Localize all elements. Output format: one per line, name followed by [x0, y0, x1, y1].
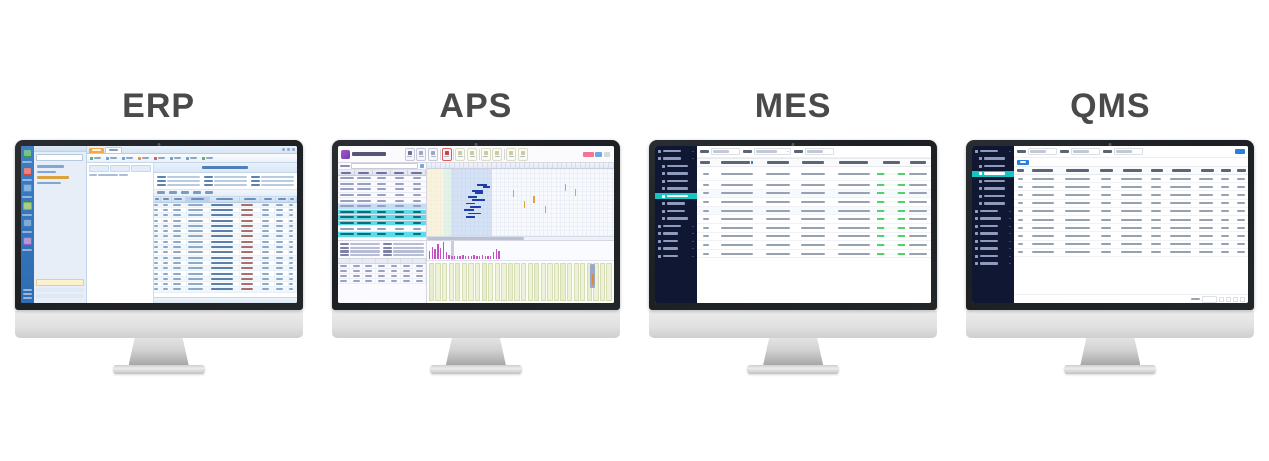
aps-toolbar-buttons[interactable] — [583, 152, 612, 157]
tab-bar[interactable] — [87, 146, 297, 154]
capacity-chart[interactable] — [427, 261, 614, 303]
capacity-marker[interactable] — [590, 264, 595, 288]
table-cell — [905, 244, 931, 246]
capacity-bar[interactable] — [468, 263, 473, 301]
histogram-bar — [485, 256, 486, 259]
table-cell — [1234, 194, 1249, 196]
table-row[interactable] — [697, 250, 931, 259]
capacity-bar[interactable] — [488, 263, 493, 301]
table-cell — [240, 229, 261, 233]
resource-card[interactable] — [467, 148, 477, 161]
table-cell — [831, 192, 877, 194]
table-row[interactable] — [697, 207, 931, 216]
qms-action-bar[interactable] — [1014, 158, 1248, 166]
window-controls[interactable] — [282, 148, 295, 151]
table-row[interactable] — [1014, 175, 1248, 183]
page-button[interactable] — [1240, 297, 1245, 302]
production-order-field[interactable] — [700, 148, 740, 155]
order-cell — [355, 233, 373, 235]
capacity-bar[interactable] — [606, 263, 611, 301]
detail-key-values[interactable] — [338, 241, 426, 258]
sidebar-item[interactable] — [655, 216, 697, 222]
capacity-bar[interactable] — [508, 263, 513, 301]
capacity-bar[interactable] — [547, 263, 552, 301]
mini-cell — [388, 274, 401, 278]
table-cell — [162, 282, 173, 286]
table-cell — [1095, 186, 1116, 188]
sidebar-item[interactable] — [972, 238, 1014, 244]
table-cell — [275, 256, 288, 260]
gantt-canvas[interactable] — [427, 169, 614, 236]
mini-cell — [350, 264, 363, 268]
form-field[interactable] — [157, 176, 200, 178]
sidebar-item[interactable] — [972, 253, 1014, 259]
sidebar-item[interactable] — [655, 201, 697, 207]
list-item[interactable] — [87, 172, 153, 178]
form-field[interactable] — [251, 176, 294, 178]
detail-pair[interactable] — [383, 254, 424, 256]
mes-sidebar[interactable] — [655, 146, 697, 303]
table-cell — [1059, 251, 1096, 253]
caption-aps: APS — [317, 86, 634, 126]
tree-node-active[interactable] — [37, 176, 69, 179]
sidebar-item[interactable] — [972, 223, 1014, 229]
table-cell — [261, 282, 275, 286]
qms-sidebar[interactable] — [972, 146, 1014, 303]
detail-pair[interactable] — [383, 243, 424, 245]
sidebar-item[interactable] — [655, 208, 697, 214]
resource-card[interactable] — [492, 148, 502, 161]
table-row[interactable] — [697, 198, 931, 207]
table-cell — [289, 218, 297, 222]
table-row[interactable] — [697, 233, 931, 242]
table-cell — [905, 192, 931, 194]
gantt-marker[interactable] — [545, 206, 546, 213]
table-cell — [1014, 202, 1026, 204]
settings-icon[interactable] — [23, 237, 32, 245]
sidebar-item[interactable] — [655, 163, 697, 169]
toolbar-button-edit[interactable] — [154, 157, 165, 160]
finance-icon[interactable] — [23, 219, 32, 227]
table-cell — [289, 261, 297, 265]
sidebar-item[interactable] — [972, 231, 1014, 237]
page-button[interactable] — [1233, 297, 1238, 302]
tree-node[interactable] — [37, 171, 56, 174]
mini-cell — [350, 274, 363, 278]
page-button[interactable] — [1219, 297, 1224, 302]
menu-icon — [975, 262, 978, 265]
capacity-bar[interactable] — [534, 263, 539, 301]
table-cell — [760, 173, 795, 175]
menu-icon — [975, 240, 978, 243]
order-row[interactable] — [338, 232, 426, 238]
qms-pager[interactable] — [1014, 294, 1248, 303]
sidebar-item[interactable] — [655, 231, 697, 237]
erp-launcher-rail[interactable] — [21, 146, 34, 303]
table-cell — [1196, 251, 1217, 253]
resource-card[interactable] — [442, 148, 452, 161]
batch-field[interactable] — [1060, 148, 1100, 155]
form-fields[interactable] — [154, 173, 297, 190]
sidebar-item[interactable] — [655, 253, 697, 259]
monitor-chin — [966, 310, 1254, 338]
detail-pair[interactable] — [340, 254, 381, 256]
icon-label — [22, 179, 32, 181]
mini-table-body[interactable] — [338, 264, 426, 284]
table-cell — [1014, 219, 1026, 221]
monitor-base — [430, 365, 522, 374]
table-cell — [154, 234, 162, 238]
order-cell — [391, 211, 409, 213]
capacity-bar[interactable] — [482, 263, 487, 301]
histogram-bar — [487, 256, 488, 259]
sidebar-item[interactable] — [972, 246, 1014, 252]
histogram-bar — [434, 249, 435, 259]
order-cell — [373, 205, 391, 207]
status-field[interactable] — [743, 148, 791, 155]
sidebar-item[interactable] — [972, 163, 1014, 169]
capacity-bar[interactable] — [560, 263, 565, 301]
report-icon[interactable] — [23, 184, 32, 192]
sidebar-item[interactable] — [655, 148, 697, 154]
form-field[interactable] — [251, 180, 294, 182]
table-cell — [831, 244, 877, 246]
date-field[interactable] — [794, 148, 834, 155]
table-cell — [1014, 194, 1026, 196]
table-cell — [172, 218, 186, 222]
detail-pair[interactable] — [340, 247, 381, 249]
table-cell — [162, 266, 173, 270]
histogram-bar — [459, 256, 460, 259]
sidebar-item[interactable] — [972, 208, 1014, 214]
tab-active[interactable] — [89, 148, 104, 154]
form-field[interactable] — [157, 180, 200, 182]
menu-icon — [662, 172, 665, 175]
table-row[interactable] — [697, 241, 931, 250]
sidebar-item[interactable] — [972, 193, 1014, 199]
order-cell — [391, 177, 409, 179]
search-input[interactable] — [36, 154, 83, 161]
schedule-button[interactable] — [583, 152, 594, 157]
table-cell — [1234, 186, 1249, 188]
table-row[interactable] — [1014, 224, 1248, 232]
table-cell — [1117, 243, 1147, 245]
table-cell — [172, 240, 186, 244]
sidebar-item[interactable] — [972, 178, 1014, 184]
histogram-bar — [465, 256, 466, 259]
table-cell — [1095, 202, 1116, 204]
table-cell — [714, 244, 760, 246]
detail-pair[interactable] — [383, 247, 424, 249]
monitor-row: ERP — [0, 0, 1269, 461]
order-cell — [391, 188, 409, 190]
table-cell — [1234, 235, 1249, 237]
form-field[interactable] — [204, 180, 247, 182]
sidebar-item[interactable] — [655, 171, 697, 177]
detail-pair[interactable] — [383, 250, 424, 252]
mes-search-bar[interactable] — [697, 146, 931, 158]
apply-button[interactable] — [595, 152, 602, 157]
resource-icon — [484, 151, 488, 155]
table-cell — [289, 229, 297, 233]
sidebar-item[interactable] — [655, 186, 697, 192]
table-cell — [1196, 194, 1217, 196]
menu-icon — [662, 217, 665, 220]
table-cell — [1027, 243, 1059, 245]
order-cell — [408, 216, 426, 218]
capacity-bar[interactable] — [600, 263, 605, 301]
table-cell — [240, 287, 261, 291]
table-cell — [877, 184, 905, 186]
resource-icon — [509, 151, 513, 155]
table-row[interactable] — [697, 215, 931, 224]
table-cell — [172, 282, 186, 286]
pdf-icon[interactable] — [23, 167, 32, 175]
resource-card[interactable] — [416, 148, 426, 161]
capacity-bar[interactable] — [567, 263, 572, 301]
capacity-bar[interactable] — [455, 263, 460, 301]
sidebar-item[interactable] — [972, 201, 1014, 207]
table-row[interactable] — [697, 224, 931, 233]
resource-card[interactable] — [518, 148, 528, 161]
gantt-marker[interactable] — [524, 201, 525, 208]
order-cell — [355, 222, 373, 224]
menu-icon — [975, 247, 978, 250]
table-row[interactable] — [154, 287, 297, 292]
gantt-bar[interactable] — [475, 192, 482, 194]
gantt-bar[interactable] — [477, 184, 486, 186]
grid-tool — [193, 191, 201, 193]
detail-pair[interactable] — [340, 250, 381, 252]
excel-icon[interactable] — [23, 149, 32, 157]
sidebar-item-active[interactable] — [972, 171, 1014, 177]
table-cell — [275, 261, 288, 265]
nav-bottom-group[interactable] — [34, 279, 86, 303]
capacity-bar[interactable] — [554, 263, 559, 301]
product-order-field[interactable] — [1017, 148, 1057, 155]
capacity-bar[interactable] — [475, 263, 480, 301]
load-histogram[interactable] — [427, 241, 614, 261]
table-row[interactable] — [1014, 249, 1248, 257]
gantt-bar[interactable] — [483, 186, 490, 188]
order-cell — [391, 194, 409, 196]
tree-node[interactable] — [37, 165, 65, 168]
table-cell — [187, 282, 210, 286]
resource-label — [483, 156, 488, 157]
monitor-base — [747, 365, 839, 374]
gantt-bar[interactable] — [470, 206, 481, 208]
capacity-bar[interactable] — [521, 263, 526, 301]
order-cell — [391, 233, 409, 235]
aps-logo — [338, 146, 403, 162]
order-cell — [373, 222, 391, 224]
table-cell — [1166, 202, 1196, 204]
capacity-bar[interactable] — [435, 263, 440, 301]
table-cell — [1014, 251, 1026, 253]
sidebar-item[interactable] — [655, 246, 697, 252]
table-cell — [1059, 219, 1096, 221]
gantt-bar[interactable] — [472, 199, 485, 201]
resource-card[interactable] — [455, 148, 465, 161]
sidebar-item-active[interactable] — [655, 193, 697, 199]
capacity-bar[interactable] — [541, 263, 546, 301]
sidebar-item[interactable] — [655, 223, 697, 229]
toolbar-button-export[interactable] — [202, 157, 213, 160]
nav-bottom-item[interactable] — [36, 294, 84, 298]
toolbar-button-print[interactable] — [186, 157, 197, 160]
table-cell — [261, 266, 275, 270]
table-cell — [289, 208, 297, 212]
capacity-bar[interactable] — [442, 263, 447, 301]
table-cell — [275, 224, 288, 228]
resource-label — [444, 156, 449, 157]
table-cell — [187, 240, 210, 244]
toolbar-button-new[interactable] — [90, 157, 101, 160]
form-field[interactable] — [204, 176, 247, 178]
erp-list-panel[interactable] — [87, 163, 154, 303]
resource-card[interactable] — [481, 148, 491, 161]
inventory-icon[interactable] — [23, 202, 32, 210]
capacity-bar[interactable] — [501, 263, 506, 301]
table-row[interactable] — [697, 190, 931, 199]
nav-bottom-item[interactable] — [36, 288, 84, 292]
capacity-bar[interactable] — [514, 263, 519, 301]
reset-button[interactable] — [604, 152, 610, 157]
form-field[interactable] — [157, 184, 200, 186]
order-table-body[interactable] — [338, 176, 426, 240]
toolbar-button-save[interactable] — [106, 157, 117, 160]
table-cell — [210, 229, 240, 233]
nav-bottom-item-active[interactable] — [36, 279, 84, 286]
sidebar-item[interactable] — [972, 216, 1014, 222]
toolbar[interactable] — [87, 154, 297, 163]
aps-filter-bar[interactable] — [338, 163, 426, 170]
add-button[interactable] — [1017, 160, 1029, 165]
gantt-bar[interactable] — [468, 196, 477, 198]
mini-table-row[interactable] — [338, 279, 426, 284]
histogram-selection[interactable] — [451, 241, 454, 260]
gantt-marker[interactable] — [575, 189, 576, 196]
capacity-bar[interactable] — [462, 263, 467, 301]
page-button[interactable] — [1226, 297, 1231, 302]
gantt-bar[interactable] — [472, 190, 483, 192]
toolbar-button-audit[interactable] — [170, 157, 181, 160]
toolbar-separator — [504, 149, 505, 160]
grid-toolbar[interactable] — [154, 190, 297, 197]
toolbar-button-copy[interactable] — [122, 157, 133, 160]
form-field[interactable] — [204, 184, 247, 186]
table-cell — [275, 234, 288, 238]
table-row[interactable] — [1014, 191, 1248, 199]
histogram-bar — [493, 252, 494, 259]
table-cell — [261, 245, 275, 249]
mini-cell — [376, 264, 389, 268]
monitor-bezel — [15, 140, 303, 310]
table-cell — [210, 245, 240, 249]
table-row[interactable] — [1014, 241, 1248, 249]
table-cell — [172, 271, 186, 275]
erp-rail-footer[interactable] — [21, 287, 34, 303]
table-cell — [210, 261, 240, 265]
table-row[interactable] — [697, 167, 931, 181]
table-row[interactable] — [1014, 208, 1248, 216]
sidebar-item[interactable] — [972, 148, 1014, 154]
resource-label — [431, 156, 436, 157]
table-cell — [1095, 178, 1116, 180]
gantt-marker[interactable] — [565, 184, 566, 191]
tree-node[interactable] — [37, 182, 61, 185]
table-cell — [1014, 243, 1026, 245]
table-row[interactable] — [1014, 232, 1248, 240]
tab-secondary[interactable] — [105, 147, 122, 154]
resource-card[interactable] — [506, 148, 516, 161]
table-cell — [1059, 186, 1096, 188]
monitor-mes — [649, 140, 937, 374]
table-cell — [210, 282, 240, 286]
page-size-select[interactable] — [1202, 296, 1217, 303]
qms-table-body[interactable] — [1014, 175, 1248, 257]
form-field[interactable] — [251, 184, 294, 186]
table-row[interactable] — [1014, 200, 1248, 208]
gantt-marker[interactable] — [533, 196, 534, 203]
resource-card[interactable] — [428, 148, 438, 161]
sidebar-item[interactable] — [972, 261, 1014, 267]
gantt-bar[interactable] — [466, 216, 475, 218]
table-row[interactable] — [697, 181, 931, 190]
capacity-bar[interactable] — [574, 263, 579, 301]
table-cell — [172, 266, 186, 270]
mes-table-body[interactable] — [697, 167, 931, 258]
toolbar-button-delete[interactable] — [138, 157, 149, 160]
table-cell — [905, 201, 931, 203]
table-body[interactable] — [154, 203, 297, 297]
detail-pair[interactable] — [340, 243, 381, 245]
sidebar-item[interactable] — [972, 186, 1014, 192]
qms-search-bar[interactable] — [1014, 146, 1248, 158]
table-cell — [1059, 243, 1096, 245]
histogram-bar — [446, 252, 447, 259]
grid-tool — [157, 191, 165, 193]
sidebar-item[interactable] — [655, 156, 697, 162]
capacity-bar[interactable] — [495, 263, 500, 301]
order-cell — [391, 228, 409, 230]
sidebar-item[interactable] — [655, 238, 697, 244]
sidebar-item[interactable] — [972, 156, 1014, 162]
gantt-bar[interactable] — [464, 209, 473, 211]
search-button[interactable] — [1235, 149, 1245, 154]
table-cell — [1059, 194, 1096, 196]
gantt-marker[interactable] — [513, 190, 514, 197]
aps-toolbar[interactable] — [403, 146, 614, 162]
aps-middle — [338, 163, 614, 240]
capacity-bar[interactable] — [528, 263, 533, 301]
capacity-bar[interactable] — [449, 263, 454, 301]
product-name-field[interactable] — [1103, 148, 1143, 155]
erp-navigation-panel[interactable] — [34, 146, 87, 303]
table-row[interactable] — [1014, 183, 1248, 191]
sidebar-item[interactable] — [655, 178, 697, 184]
table-row[interactable] — [1014, 216, 1248, 224]
menu-icon — [975, 217, 978, 220]
order-cell — [408, 233, 426, 235]
nav-tree[interactable] — [34, 163, 86, 186]
aps-detail-panel — [338, 241, 427, 303]
table-cell — [1234, 243, 1249, 245]
capacity-bar[interactable] — [580, 263, 585, 301]
capacity-bar[interactable] — [429, 263, 434, 301]
resource-card[interactable] — [405, 148, 415, 161]
table-cell — [1147, 194, 1166, 196]
